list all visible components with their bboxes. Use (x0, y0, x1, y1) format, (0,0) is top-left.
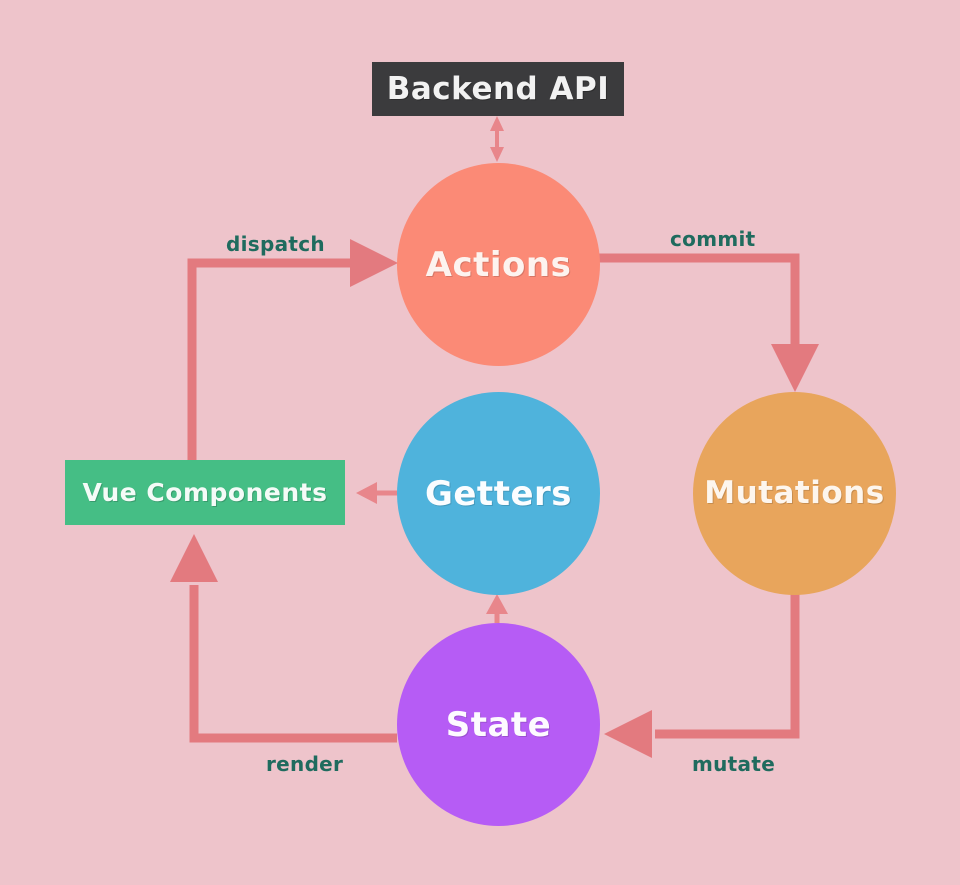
edge-label-render: render (266, 752, 343, 776)
edge-backend-to-actions (490, 116, 504, 162)
node-actions-label: Actions (426, 248, 572, 282)
edge-getters-to-vue (356, 482, 397, 504)
node-vue-components-label: Vue Components (83, 480, 328, 505)
edge-render (170, 534, 397, 738)
edge-label-mutate: mutate (692, 752, 775, 776)
edge-commit (598, 258, 819, 392)
edge-mutate (604, 594, 795, 758)
edge-label-dispatch: dispatch (226, 232, 325, 256)
edge-state-to-getters (486, 594, 508, 623)
node-getters: Getters (397, 392, 600, 595)
edge-dispatch (192, 239, 398, 460)
node-mutations: Mutations (693, 392, 896, 595)
diagram-canvas: Backend API Actions Mutations Getters St… (0, 0, 960, 885)
node-state-label: State (446, 708, 552, 742)
node-backend-api-label: Backend API (387, 74, 610, 105)
edge-label-commit: commit (670, 227, 756, 251)
node-state: State (397, 623, 600, 826)
node-getters-label: Getters (425, 477, 572, 511)
node-backend-api: Backend API (372, 62, 624, 116)
node-actions: Actions (397, 163, 600, 366)
node-mutations-label: Mutations (704, 478, 884, 509)
node-vue-components: Vue Components (65, 460, 345, 525)
